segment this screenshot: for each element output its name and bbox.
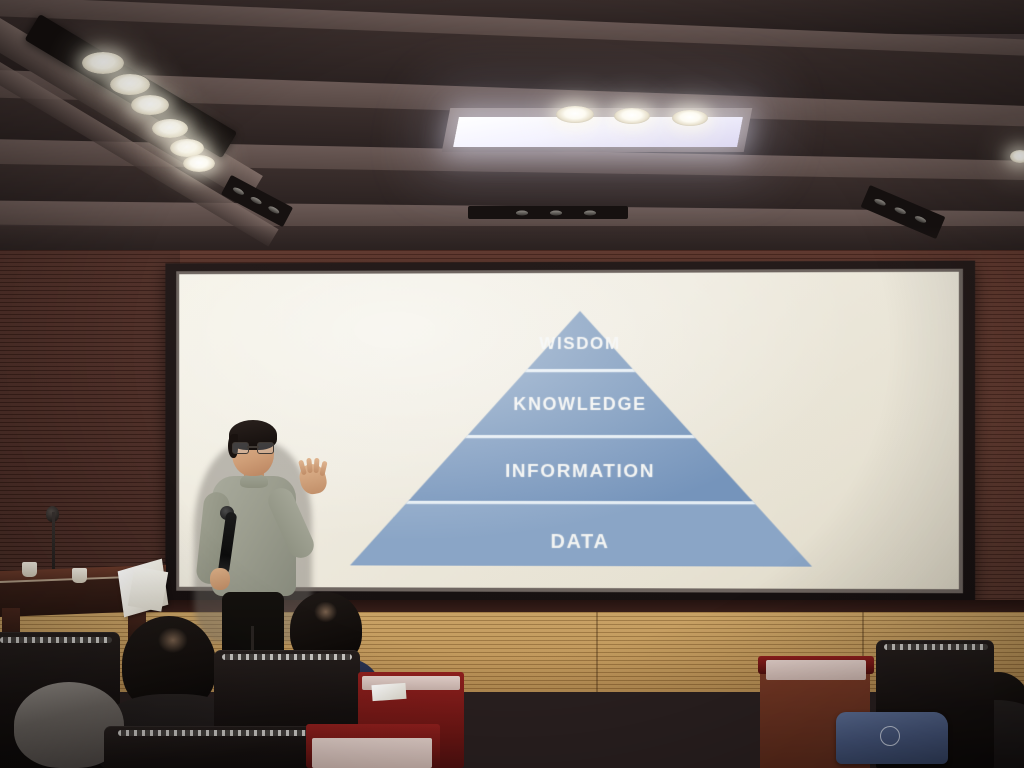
wood-panel-seam: [596, 612, 598, 692]
track-lamp-icon: [267, 205, 280, 215]
handout-paper-center: [371, 683, 406, 701]
finger: [313, 458, 319, 473]
track-lamp-icon: [914, 215, 927, 224]
track-lamp-icon: [894, 206, 907, 215]
attendee-left-scalp: [150, 628, 194, 660]
track-light-center: [468, 206, 628, 219]
ceiling-spotlight-2: [110, 74, 150, 95]
attendee-center-scalp: [308, 602, 342, 628]
ceiling-spotlight-4: [152, 119, 188, 138]
glasses-bridge: [247, 446, 259, 448]
ceiling-spotlight-8: [614, 108, 650, 124]
ceiling-spotlight-9: [672, 110, 708, 126]
desk-microphone-stem: [52, 512, 55, 570]
track-lamp-icon: [873, 198, 886, 207]
lecture-hall-photo: WISDOM KNOWLEDGE INFORMATION DATA: [0, 0, 1024, 768]
pyramid-label-wisdom: WISDOM: [539, 334, 620, 353]
finger: [319, 461, 327, 477]
glasses-lens-left: [232, 442, 249, 454]
glasses-icon: [232, 442, 274, 452]
presenter-hand-holding-mic: [210, 568, 230, 590]
presenter-fingers: [300, 458, 328, 476]
ceiling-spotlight-7: [556, 106, 594, 123]
desk-right-surface: [766, 660, 866, 680]
pyramid-band-wisdom: [179, 272, 959, 372]
desk-front-right-surface: [312, 738, 432, 768]
track-lamp-icon: [232, 186, 245, 196]
track-lamp-icon: [584, 210, 596, 215]
pyramid-divider-1: [179, 369, 959, 373]
seat-far-left-trim: [0, 637, 112, 643]
paper-cup: [22, 562, 37, 577]
ceiling-spotlight-1: [82, 52, 124, 74]
ceiling-spotlight-6: [183, 155, 215, 172]
track-lamp-icon: [516, 210, 528, 215]
seat-right-trim: [884, 644, 988, 650]
track-lamp-icon: [250, 196, 263, 206]
ceiling: [0, 0, 1024, 268]
presenter-collar: [240, 474, 268, 488]
ceiling-spotlight-3: [131, 95, 169, 115]
blue-bag: [836, 712, 948, 764]
bag-logo-icon: [880, 726, 900, 746]
pyramid-label-data: DATA: [551, 531, 610, 553]
track-lamp-icon: [550, 210, 562, 215]
handout-paper-back: [128, 566, 168, 611]
paper-cup: [72, 568, 87, 583]
ceiling-spotlight-edge: [1010, 150, 1024, 163]
pyramid-label-knowledge: KNOWLEDGE: [513, 394, 646, 414]
finger: [306, 458, 313, 473]
glasses-lens-right: [257, 442, 274, 454]
pyramid-label-information: INFORMATION: [505, 461, 655, 482]
